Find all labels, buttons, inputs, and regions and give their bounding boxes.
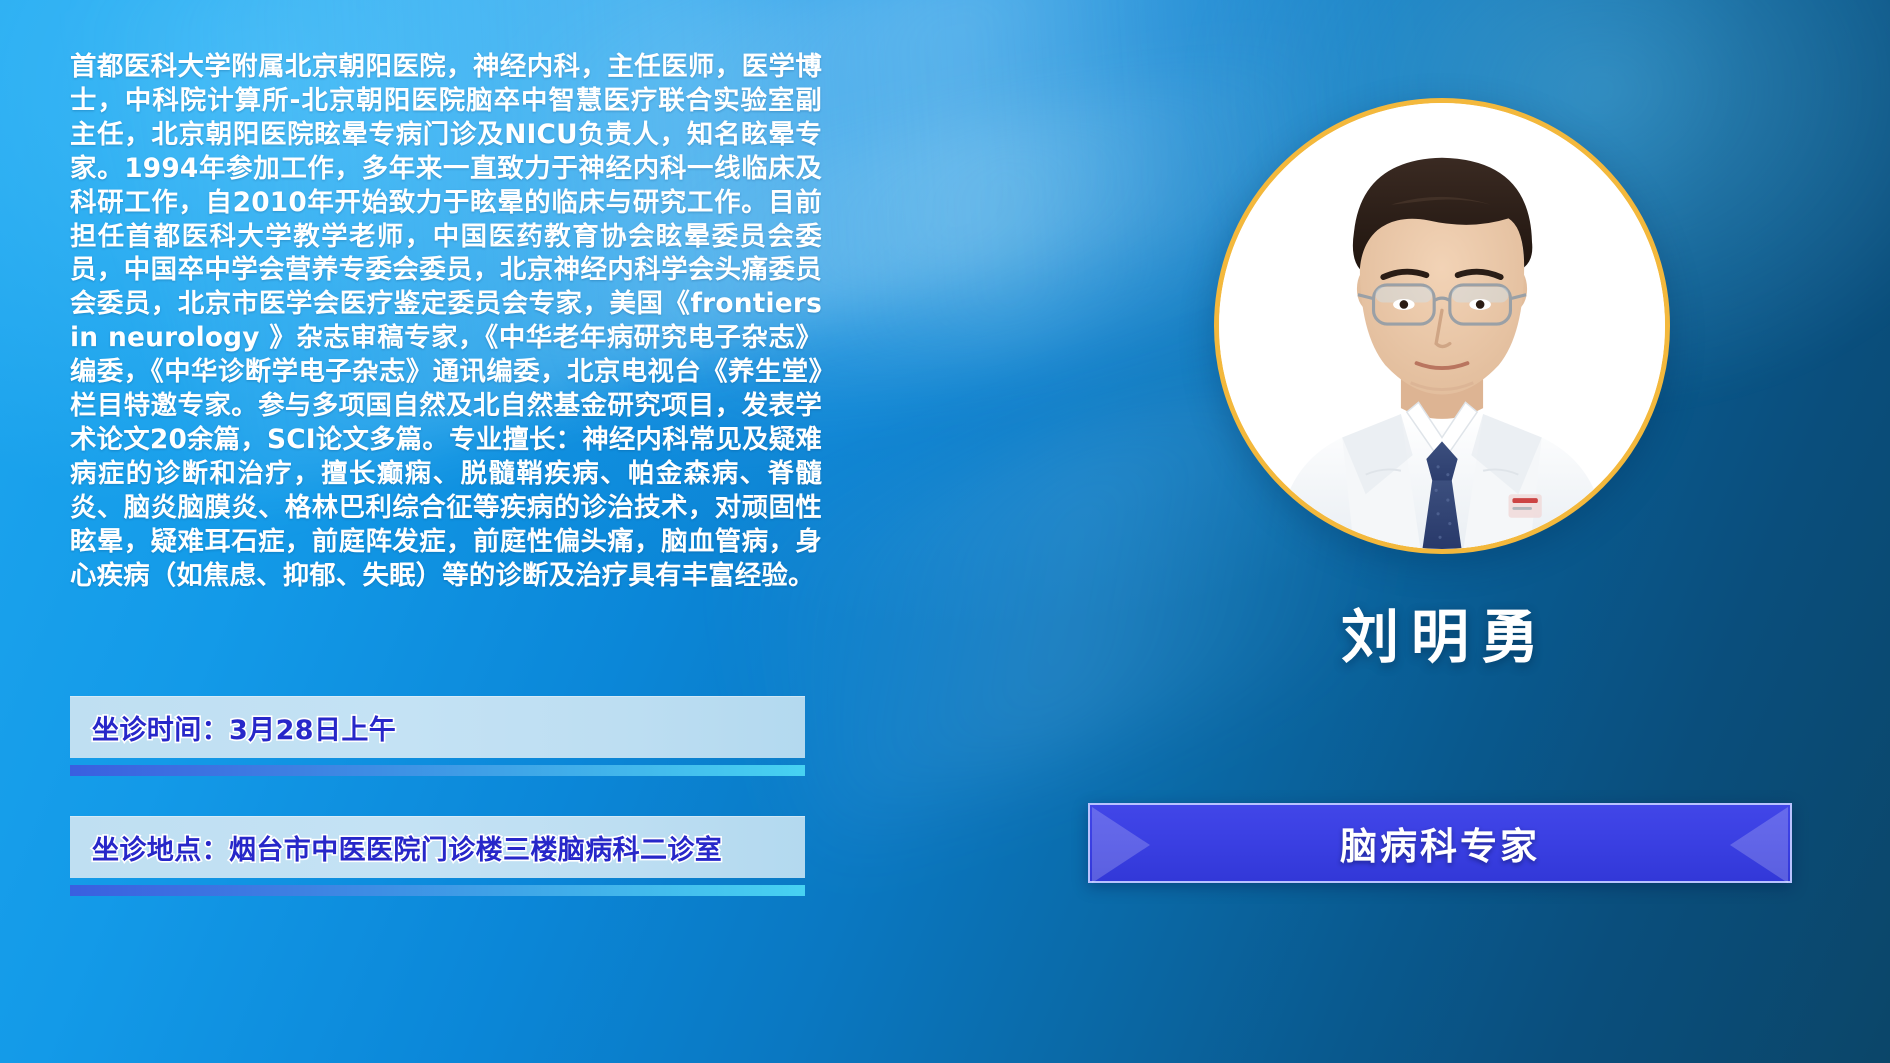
consultation-place-underbar — [70, 885, 805, 896]
doctor-portrait-avatar — [1214, 98, 1670, 554]
consultation-time-block: 坐诊时间：3月28日上午 — [70, 696, 805, 776]
consultation-place-block: 坐诊地点：烟台市中医医院门诊楼三楼脑病科二诊室 — [70, 816, 805, 896]
consultation-time-label: 坐诊时间：3月28日上午 — [92, 708, 396, 747]
doctor-portrait-image — [1219, 103, 1665, 549]
consultation-place-label: 坐诊地点：烟台市中医医院门诊楼三楼脑病科二诊室 — [92, 828, 722, 867]
doctor-title-label: 脑病科专家 — [1340, 816, 1540, 870]
consultation-time-panel: 坐诊时间：3月28日上午 — [70, 696, 805, 758]
chevron-left-icon — [1092, 807, 1150, 883]
consultation-place-panel: 坐诊地点：烟台市中医医院门诊楼三楼脑病科二诊室 — [70, 816, 805, 878]
consultation-time-underbar — [70, 765, 805, 776]
chevron-right-icon — [1730, 807, 1788, 883]
doctor-name: 刘明勇 — [1090, 590, 1790, 674]
doctor-biography: 首都医科大学附属北京朝阳医院，神经内科，主任医师，医学博士，中科院计算所-北京朝… — [70, 50, 822, 593]
doctor-title-banner: 脑病科专家 — [1088, 803, 1792, 883]
doctor-profile-poster: 首都医科大学附属北京朝阳医院，神经内科，主任医师，医学博士，中科院计算所-北京朝… — [0, 0, 1890, 1063]
